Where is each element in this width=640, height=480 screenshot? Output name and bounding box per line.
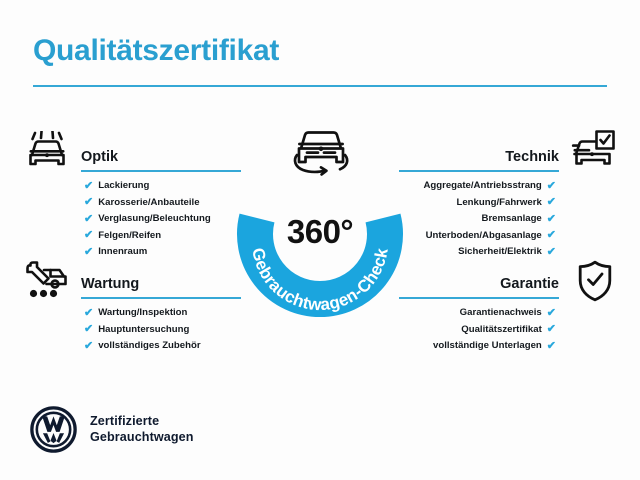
check-list: Aggregate/Antriebsstrang ✔ Lenkung/Fahrw… — [396, 178, 556, 261]
check-icon: ✔ — [547, 324, 556, 335]
list-item-label: Garantienachweis — [460, 305, 542, 322]
shield-check-icon — [574, 259, 616, 308]
certificate-page: Qualitätszertifikat — [0, 0, 640, 480]
list-item: ✔ Innenraum — [84, 244, 211, 261]
volkswagen-logo — [30, 406, 77, 453]
check-icon: ✔ — [84, 324, 93, 335]
section-header: Garantie — [399, 267, 559, 293]
list-item-label: Verglasung/Beleuchtung — [98, 211, 210, 228]
list-item-label: Innenraum — [98, 244, 147, 261]
list-item-label: Aggregate/Antriebsstrang — [423, 178, 541, 195]
list-item: ✔ Karosserie/Anbauteile — [84, 195, 211, 212]
car-front-shine-icon — [24, 131, 70, 178]
section-title: Technik — [505, 149, 559, 165]
section-divider — [81, 170, 241, 172]
badge-degrees: 360° — [228, 213, 412, 251]
section-divider — [399, 297, 559, 299]
list-item: Aggregate/Antriebsstrang ✔ — [396, 178, 556, 195]
list-item-label: Qualitätszertifikat — [461, 322, 542, 339]
list-item: ✔ Verglasung/Beleuchtung — [84, 211, 211, 228]
list-item-label: vollständiges Zubehör — [98, 338, 200, 355]
section-title: Wartung — [81, 276, 139, 292]
check-icon: ✔ — [547, 308, 556, 319]
list-item: Bremsanlage ✔ — [396, 211, 556, 228]
section-title: Optik — [81, 149, 118, 165]
check-icon: ✔ — [84, 214, 93, 225]
list-item: Unterboden/Abgasanlage ✔ — [396, 228, 556, 245]
list-item: ✔ Lackierung — [84, 178, 211, 195]
list-item-label: Lackierung — [98, 178, 149, 195]
section-divider — [399, 170, 559, 172]
list-item-label: Karosserie/Anbauteile — [98, 195, 199, 212]
check-icon: ✔ — [547, 197, 556, 208]
check-icon: ✔ — [84, 181, 93, 192]
list-item-label: Unterboden/Abgasanlage — [426, 228, 542, 245]
list-item: Qualitätszertifikat ✔ — [396, 322, 556, 339]
check-list: ✔ Wartung/Inspektion ✔ Hauptuntersuchung… — [84, 305, 201, 355]
check-icon: ✔ — [547, 247, 556, 258]
check-icon: ✔ — [84, 308, 93, 319]
check-icon: ✔ — [84, 230, 93, 241]
check-icon: ✔ — [84, 197, 93, 208]
list-item: Garantienachweis ✔ — [396, 305, 556, 322]
check-list: Garantienachweis ✔ Qualitätszertifikat ✔… — [396, 305, 556, 355]
list-item-label: Hauptuntersuchung — [98, 322, 189, 339]
check-icon: ✔ — [547, 230, 556, 241]
title-divider — [33, 85, 607, 87]
list-item: ✔ Wartung/Inspektion — [84, 305, 201, 322]
section-garantie: Garantie Garantienachweis ✔ Qualitätszer… — [399, 267, 559, 293]
check-list: ✔ Lackierung ✔ Karosserie/Anbauteile ✔ V… — [84, 178, 211, 261]
check-icon: ✔ — [547, 181, 556, 192]
footer-line-1: Zertifizierte — [90, 414, 194, 430]
list-item-label: vollständige Unterlagen — [433, 338, 542, 355]
list-item-label: Sicherheit/Elektrik — [458, 244, 542, 261]
check-icon: ✔ — [84, 341, 93, 352]
page-title: Qualitätszertifikat — [33, 34, 279, 68]
list-item-label: Lenkung/Fahrwerk — [456, 195, 541, 212]
list-item: vollständige Unterlagen ✔ — [396, 338, 556, 355]
section-technik: Technik Aggregate/Antriebsstrang ✔ Lenku… — [399, 140, 559, 166]
footer-logo-block: Zertifizierte Gebrauchtwagen — [30, 406, 194, 453]
check-icon: ✔ — [84, 247, 93, 258]
list-item: ✔ Felgen/Reifen — [84, 228, 211, 245]
section-title: Garantie — [500, 276, 559, 292]
car-front-rotate-icon — [288, 122, 354, 185]
footer-line-2: Gebrauchtwagen — [90, 430, 194, 446]
list-item-label: Bremsanlage — [482, 211, 542, 228]
check-icon: ✔ — [547, 214, 556, 225]
list-item: Sicherheit/Elektrik ✔ — [396, 244, 556, 261]
car-checklist-icon — [570, 129, 616, 176]
wrench-car-icon — [24, 259, 70, 306]
section-divider — [81, 297, 241, 299]
check-icon: ✔ — [547, 341, 556, 352]
list-item: ✔ Hauptuntersuchung — [84, 322, 201, 339]
list-item-label: Felgen/Reifen — [98, 228, 161, 245]
list-item: ✔ vollständiges Zubehör — [84, 338, 201, 355]
list-item: Lenkung/Fahrwerk ✔ — [396, 195, 556, 212]
section-header: Technik — [399, 140, 559, 166]
list-item-label: Wartung/Inspektion — [98, 305, 187, 322]
footer-logo-text: Zertifizierte Gebrauchtwagen — [90, 414, 194, 445]
